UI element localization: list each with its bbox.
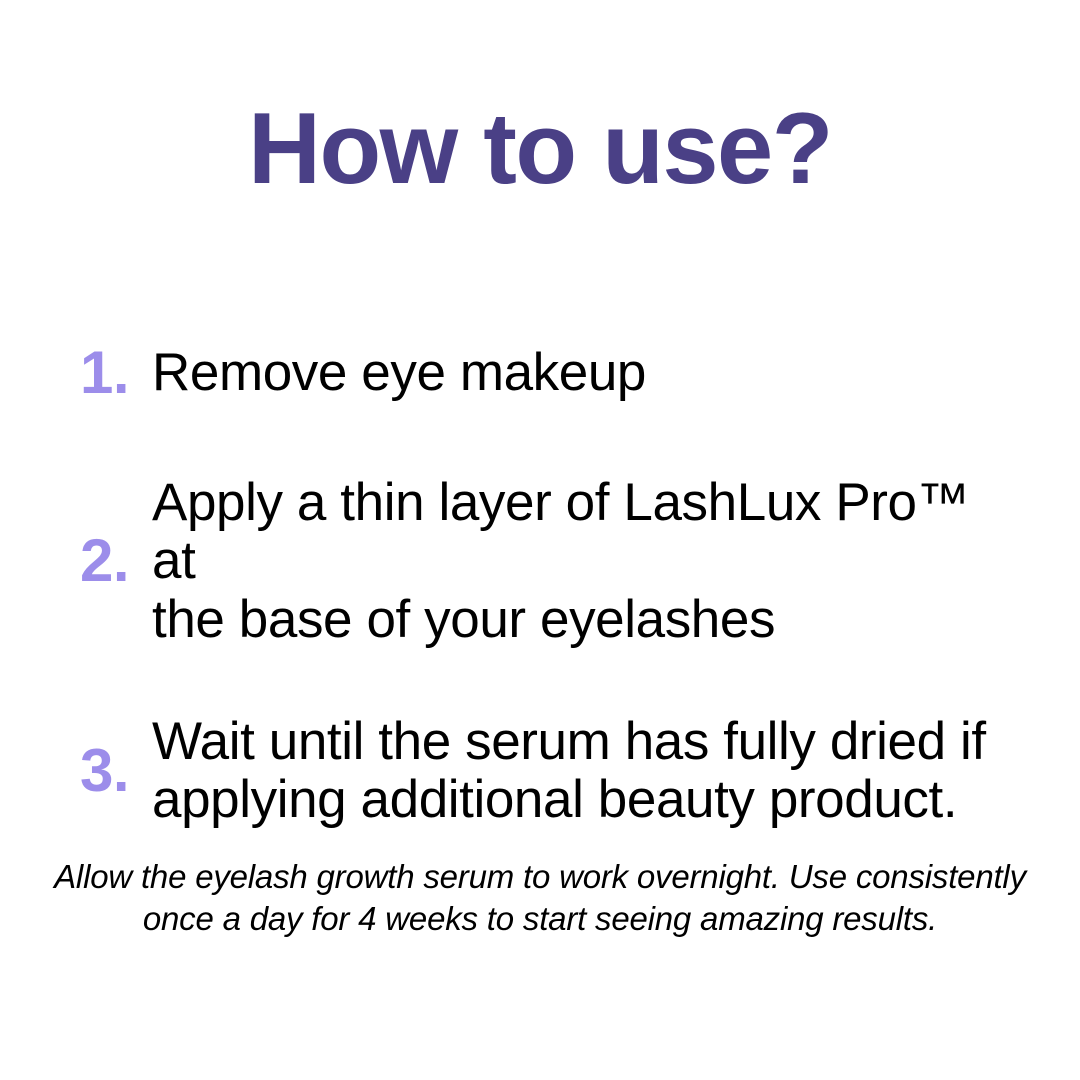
step-text-3: Wait until the serum has fully dried if … — [152, 713, 1080, 830]
page-title-container: How to use? — [0, 96, 1080, 203]
list-item-step-1: 1. Remove eye makeup — [0, 330, 1080, 416]
step-text-2-line-1: Apply a thin layer of LashLux Pro™ at — [152, 474, 1002, 591]
step-text-3-line-1: Wait until the serum has fully dried if — [152, 713, 1002, 771]
step-text-2: Apply a thin layer of LashLux Pro™ at th… — [152, 474, 1080, 649]
step-text-1-line-1: Remove eye makeup — [152, 344, 1002, 402]
step-number-1: 1. — [0, 343, 152, 403]
step-text-3-line-2: applying additional beauty product. — [152, 771, 1002, 829]
footnote-line-2: once a day for 4 weeks to start seeing a… — [50, 898, 1030, 940]
how-to-use-poster: How to use? 1. Remove eye makeup 2. Appl… — [0, 0, 1080, 1080]
step-number-2: 2. — [0, 531, 152, 591]
list-item-step-3: 3. Wait until the serum has fully dried … — [0, 713, 1080, 830]
steps-list: 1. Remove eye makeup 2. Apply a thin lay… — [0, 330, 1080, 829]
footnote-line-1: Allow the eyelash growth serum to work o… — [50, 856, 1030, 898]
step-number-3: 3. — [0, 741, 152, 801]
step-text-1: Remove eye makeup — [152, 344, 1080, 402]
page-title: How to use? — [248, 96, 832, 203]
list-item-step-2: 2. Apply a thin layer of LashLux Pro™ at… — [0, 474, 1080, 649]
footnote: Allow the eyelash growth serum to work o… — [50, 856, 1030, 940]
step-text-2-line-2: the base of your eyelashes — [152, 591, 1002, 649]
